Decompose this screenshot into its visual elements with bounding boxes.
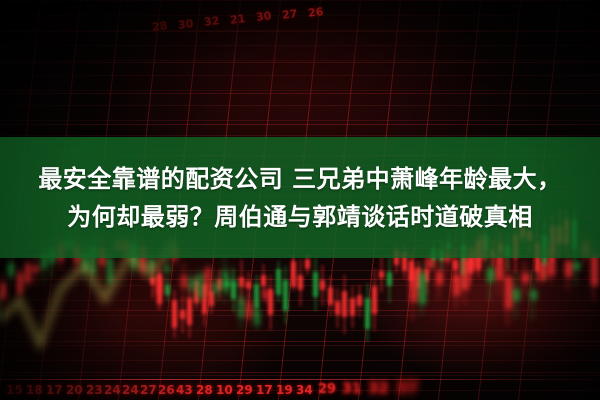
top-axis-tick: 32 bbox=[203, 14, 220, 29]
top-axis-tick: 26 bbox=[307, 5, 324, 20]
x-axis-tick: 29 bbox=[236, 383, 253, 397]
top-axis-tick: 30 bbox=[255, 10, 272, 25]
x-axis-tick: 24 bbox=[104, 383, 121, 397]
x-axis-tick: 26 bbox=[158, 383, 175, 397]
top-axis-labels: 28303221302726 bbox=[0, 2, 600, 24]
x-axis-tick: 34 bbox=[296, 383, 313, 397]
x-axis-tick: 24 bbox=[122, 383, 139, 397]
headline-line-1: 最安全靠谱的配资公司 三兄弟中萧峰年龄最大， bbox=[38, 160, 561, 198]
x-axis-tick: 18 bbox=[26, 383, 43, 397]
headline-banner: 最安全靠谱的配资公司 三兄弟中萧峰年龄最大， 为何却最弱？周伯通与郭靖谈话时道破… bbox=[0, 137, 600, 258]
x-axis-tick: 17 bbox=[256, 383, 273, 397]
x-axis-tick: 43 bbox=[176, 383, 193, 397]
x-axis-tick: 37 bbox=[396, 378, 418, 397]
x-axis-tick: 10 bbox=[216, 383, 233, 397]
x-axis-tick: 31 bbox=[342, 381, 361, 397]
headline-line-2: 为何却最弱？周伯通与郭靖谈话时道破真相 bbox=[67, 198, 533, 236]
x-axis-tick: 15 bbox=[6, 383, 23, 397]
top-axis-tick: 21 bbox=[229, 12, 246, 27]
x-axis-tick: 27 bbox=[140, 383, 157, 397]
top-axis-tick: 28 bbox=[151, 19, 168, 34]
x-axis-tick: 32 bbox=[368, 379, 389, 397]
x-axis-tick: 19 bbox=[276, 383, 293, 397]
screenshot-root: 最安全靠谱的配资公司 三兄弟中萧峰年龄最大， 为何却最弱？周伯通与郭靖谈话时道破… bbox=[0, 0, 600, 400]
x-axis-tick: 23 bbox=[86, 383, 103, 397]
top-axis-tick: 27 bbox=[281, 7, 298, 22]
x-axis-tick: 20 bbox=[66, 383, 83, 397]
x-axis-labels: 1518172023242427264328102917193429313237 bbox=[0, 373, 600, 397]
x-axis-tick: 17 bbox=[46, 383, 63, 397]
x-axis-tick: 28 bbox=[196, 383, 213, 397]
top-axis-tick: 30 bbox=[177, 17, 194, 32]
x-axis-tick: 29 bbox=[318, 382, 336, 397]
